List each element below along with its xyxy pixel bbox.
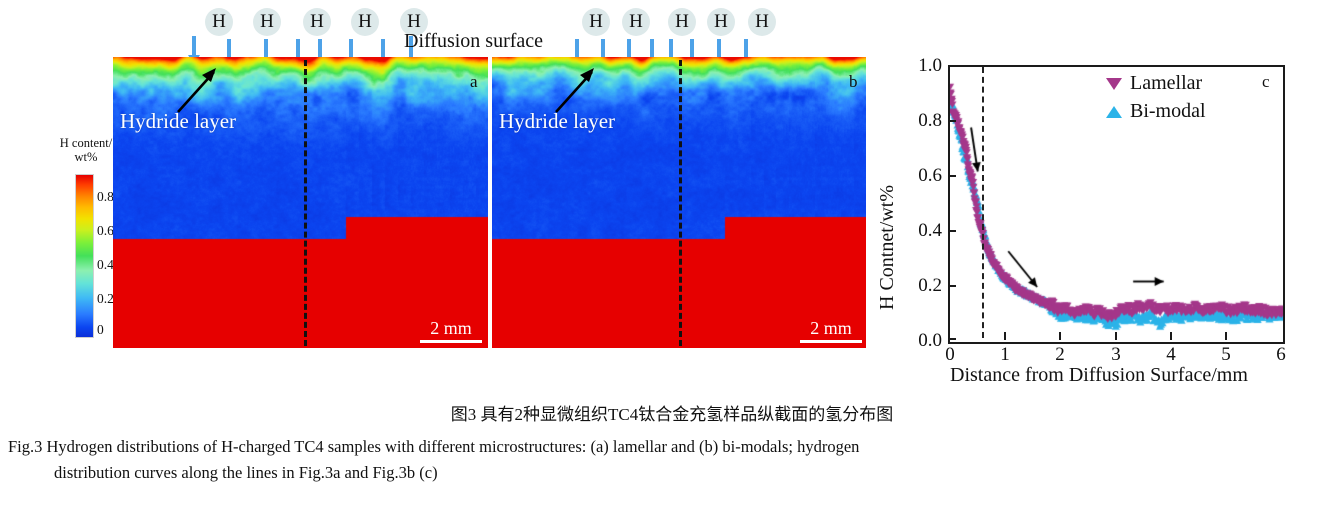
caption-english: Fig.3 Hydrogen distributions of H-charge… — [8, 434, 1338, 485]
x-tickmark — [1115, 332, 1117, 340]
legend-item-bimodal[interactable]: Bi-modal — [1106, 100, 1206, 123]
y-tickmark — [948, 338, 956, 340]
chart-boundary-dashed-line — [982, 67, 984, 338]
triangle-down-icon — [1106, 78, 1122, 90]
y-tick: 0.8 — [890, 110, 942, 132]
y-tickmark — [948, 175, 956, 177]
panel-letter-c: c — [1262, 72, 1270, 92]
caption-english-line1: Fig.3 Hydrogen distributions of H-charge… — [8, 437, 859, 456]
x-tickmark — [1225, 332, 1227, 340]
chart-x-axis-title: Distance from Diffusion Surface/mm — [950, 364, 1248, 387]
chart-y-axis-title: H Contnet/wt% — [876, 185, 899, 310]
x-tick: 5 — [1211, 344, 1241, 366]
x-tickmark — [1170, 332, 1172, 340]
caption-chinese: 图3 具有2种显微组织TC4钛合金充氢样品纵截面的氢分布图 — [0, 400, 1344, 425]
x-tick: 3 — [1101, 344, 1131, 366]
y-tickmark — [948, 230, 956, 232]
caption-english-line2: distribution curves along the lines in F… — [8, 460, 1338, 486]
x-tick: 1 — [990, 344, 1020, 366]
triangle-up-icon — [1106, 106, 1122, 118]
x-tick: 4 — [1156, 344, 1186, 366]
y-tick: 0.6 — [890, 165, 942, 187]
legend-item-lamellar[interactable]: Lamellar — [1106, 72, 1202, 95]
y-tickmark — [948, 120, 956, 122]
x-tickmark — [1004, 332, 1006, 340]
figure-container: H H H H H Diffusion surface H H H H H H … — [0, 0, 1344, 506]
y-tick: 1.0 — [890, 55, 942, 77]
x-tickmark — [1059, 332, 1061, 340]
x-tick: 0 — [935, 344, 965, 366]
y-tickmark — [948, 285, 956, 287]
legend-label-lamellar: Lamellar — [1130, 72, 1202, 95]
chart-panel-c: 1.0 0.8 0.6 0.4 0.2 0.0 0 1 2 3 4 5 6 — [0, 0, 1344, 400]
x-tick: 6 — [1266, 344, 1296, 366]
legend-label-bimodal: Bi-modal — [1130, 100, 1206, 123]
x-tick: 2 — [1045, 344, 1075, 366]
